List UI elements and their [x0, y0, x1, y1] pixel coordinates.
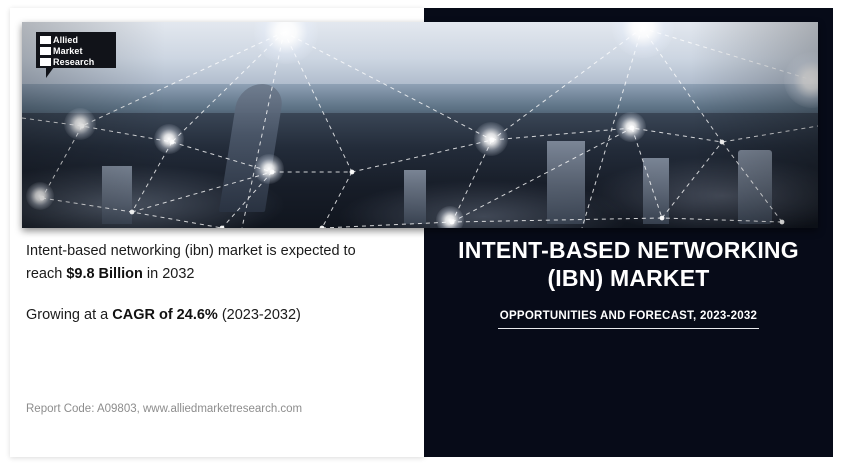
report-title-block: INTENT-BASED NETWORKING (IBN) MARKET OPP…: [424, 236, 833, 329]
logo-bar-icon: [40, 58, 51, 66]
logo-row: Market: [40, 46, 94, 56]
logo-row: Allied: [40, 35, 94, 45]
hero-cityscape-image: Allied Market Research: [22, 22, 818, 228]
logo-text-rows: Allied Market Research: [40, 35, 94, 68]
report-subtitle: OPPORTUNITIES AND FORECAST, 2023-2032: [498, 310, 759, 329]
logo-bar-icon: [40, 36, 51, 44]
market-value-statement: Intent-based networking (ibn) market is …: [26, 240, 386, 286]
cagr-text-tail: (2023-2032): [218, 307, 301, 323]
report-cover: Allied Market Research Intent-based netw…: [0, 0, 847, 470]
logo-line-2: Market: [53, 47, 83, 55]
cagr-highlight: CAGR of 24.6%: [112, 307, 218, 323]
market-value-highlight: $9.8 Billion: [66, 266, 143, 282]
allied-market-research-logo: Allied Market Research: [36, 32, 122, 78]
cagr-statement: Growing at a CAGR of 24.6% (2023-2032): [26, 304, 386, 327]
hero-vignette: [22, 22, 818, 228]
page-title: INTENT-BASED NETWORKING (IBN) MARKET: [424, 236, 833, 292]
logo-row: Research: [40, 57, 94, 67]
logo-line-3: Research: [53, 58, 94, 66]
logo-bar-icon: [40, 47, 51, 55]
market-summary-copy: Intent-based networking (ibn) market is …: [26, 240, 386, 327]
cagr-text-lead: Growing at a: [26, 307, 112, 323]
report-code-text: Report Code: A09803, www.alliedmarketres…: [26, 401, 302, 417]
statement-text-tail: in 2032: [143, 266, 195, 282]
logo-line-1: Allied: [53, 36, 78, 44]
logo-bubble-tail-icon: [46, 67, 54, 78]
